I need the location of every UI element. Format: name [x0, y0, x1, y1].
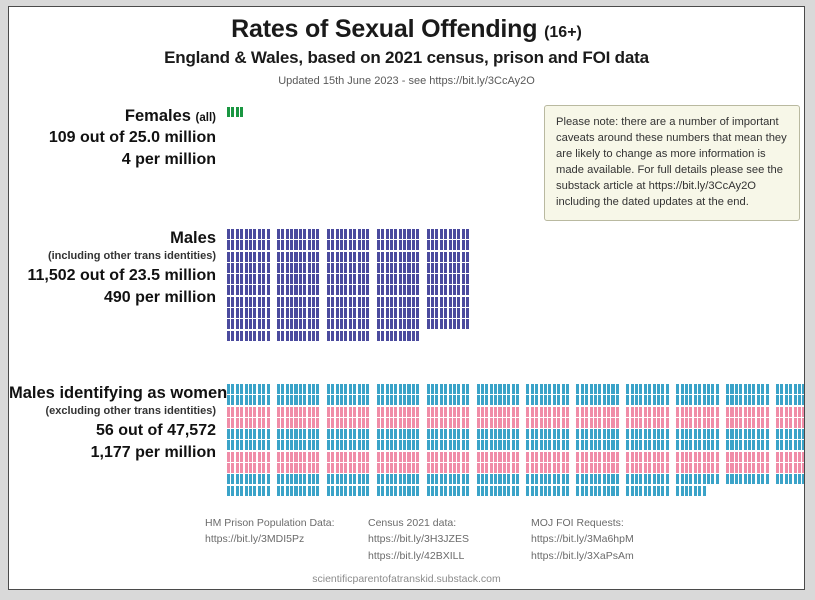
person-icon	[789, 463, 792, 473]
person-icon	[435, 384, 438, 394]
person-icon	[752, 395, 755, 405]
person-icon	[716, 407, 719, 417]
person-icon	[666, 407, 669, 417]
page-title: Rates of Sexual Offending (16+)	[9, 16, 804, 44]
person-icon	[594, 429, 597, 439]
person-icon	[548, 486, 551, 496]
person-icon	[490, 384, 493, 394]
person-icon	[407, 297, 410, 307]
person-icon	[449, 407, 452, 417]
pictogram-block	[227, 429, 271, 440]
person-icon	[798, 474, 801, 484]
person-icon	[802, 407, 805, 417]
person-icon	[607, 486, 610, 496]
person-icon	[294, 463, 297, 473]
person-icon	[294, 418, 297, 428]
person-icon	[535, 486, 538, 496]
person-icon	[231, 418, 234, 428]
person-icon	[427, 418, 430, 428]
person-icon	[299, 319, 302, 329]
person-icon	[585, 463, 588, 473]
pictogram-block	[227, 331, 271, 342]
person-icon	[377, 395, 380, 405]
person-icon	[253, 319, 256, 329]
person-icon	[594, 486, 597, 496]
person-icon	[290, 240, 293, 250]
person-icon	[331, 319, 334, 329]
person-icon	[390, 252, 393, 262]
person-icon	[294, 486, 297, 496]
person-icon	[349, 452, 352, 462]
person-icon	[236, 331, 239, 341]
person-icon	[557, 384, 560, 394]
person-icon	[694, 418, 697, 428]
person-icon	[403, 452, 406, 462]
person-icon	[449, 240, 452, 250]
person-icon	[362, 240, 365, 250]
person-icon	[390, 229, 393, 239]
pictogram-block	[327, 440, 371, 451]
person-icon	[267, 285, 270, 295]
person-icon	[440, 384, 443, 394]
person-icon	[281, 252, 284, 262]
pictogram-block	[427, 429, 471, 440]
pictogram-block	[227, 319, 271, 330]
pictogram-block	[726, 474, 770, 485]
pictogram-block	[626, 418, 670, 429]
person-icon	[666, 384, 669, 394]
pictogram-row	[227, 107, 251, 118]
pictogram-block	[676, 463, 720, 474]
person-icon	[581, 486, 584, 496]
person-icon	[457, 452, 460, 462]
person-icon	[653, 440, 656, 450]
person-icon	[462, 463, 465, 473]
person-icon	[412, 395, 415, 405]
person-icon	[516, 395, 519, 405]
person-icon	[576, 418, 579, 428]
person-icon	[431, 429, 434, 439]
person-icon	[308, 440, 311, 450]
person-icon	[661, 429, 664, 439]
person-icon	[703, 395, 706, 405]
person-icon	[635, 452, 638, 462]
person-icon	[681, 407, 684, 417]
person-icon	[262, 395, 265, 405]
person-icon	[344, 452, 347, 462]
person-icon	[802, 418, 805, 428]
pictogram-block	[427, 263, 471, 274]
person-icon	[590, 407, 593, 417]
person-icon	[399, 285, 402, 295]
person-icon	[526, 452, 529, 462]
person-icon	[258, 452, 261, 462]
person-icon	[262, 384, 265, 394]
person-icon	[290, 331, 293, 341]
person-icon	[785, 452, 788, 462]
person-icon	[611, 429, 614, 439]
person-icon	[327, 331, 330, 341]
person-icon	[240, 486, 243, 496]
person-icon	[394, 308, 397, 318]
person-icon	[681, 395, 684, 405]
person-icon	[611, 474, 614, 484]
person-icon	[449, 452, 452, 462]
person-icon	[349, 331, 352, 341]
footer-site-link[interactable]: scientificparentofatranskid.substack.com	[9, 573, 804, 585]
person-icon	[440, 297, 443, 307]
pictogram-block	[327, 452, 371, 463]
person-icon	[462, 440, 465, 450]
person-icon	[427, 407, 430, 417]
person-icon	[681, 429, 684, 439]
person-icon	[748, 384, 751, 394]
person-icon	[657, 429, 660, 439]
person-icon	[231, 274, 234, 284]
person-icon	[666, 463, 669, 473]
source-link[interactable]: https://bit.ly/3XaPsAm	[531, 548, 676, 564]
person-icon	[544, 407, 547, 417]
person-icon	[316, 429, 319, 439]
person-icon	[277, 440, 280, 450]
person-icon	[316, 274, 319, 284]
person-icon	[303, 308, 306, 318]
person-icon	[744, 474, 747, 484]
person-icon	[503, 407, 506, 417]
pictogram-block	[477, 429, 521, 440]
person-icon	[267, 297, 270, 307]
person-icon	[403, 418, 406, 428]
person-icon	[336, 440, 339, 450]
person-icon	[481, 384, 484, 394]
person-icon	[739, 452, 742, 462]
person-icon	[648, 486, 651, 496]
person-icon	[344, 319, 347, 329]
person-icon	[340, 486, 343, 496]
person-icon	[435, 452, 438, 462]
person-icon	[553, 384, 556, 394]
person-icon	[748, 440, 751, 450]
person-icon	[681, 486, 684, 496]
person-icon	[394, 297, 397, 307]
person-icon	[394, 407, 397, 417]
person-icon	[512, 395, 515, 405]
person-icon	[236, 240, 239, 250]
person-icon	[308, 474, 311, 484]
person-icon	[726, 395, 729, 405]
person-icon	[249, 308, 252, 318]
person-icon	[303, 252, 306, 262]
person-icon	[685, 452, 688, 462]
person-icon	[590, 395, 593, 405]
person-icon	[607, 384, 610, 394]
pictogram-block	[427, 463, 471, 474]
person-icon	[716, 440, 719, 450]
person-icon	[308, 407, 311, 417]
person-icon	[331, 418, 334, 428]
person-icon	[286, 331, 289, 341]
person-icon	[277, 452, 280, 462]
person-icon	[308, 308, 311, 318]
person-icon	[457, 418, 460, 428]
person-icon	[245, 285, 248, 295]
person-icon	[377, 240, 380, 250]
person-icon	[431, 285, 434, 295]
person-icon	[227, 319, 230, 329]
person-icon	[635, 429, 638, 439]
pictogram-block	[227, 418, 271, 429]
person-icon	[394, 486, 397, 496]
person-icon	[748, 407, 751, 417]
person-icon	[431, 407, 434, 417]
person-icon	[286, 274, 289, 284]
person-icon	[707, 429, 710, 439]
person-icon	[236, 274, 239, 284]
person-icon	[735, 384, 738, 394]
pictogram-block	[277, 474, 321, 485]
person-icon	[412, 452, 415, 462]
pictogram-block	[576, 395, 620, 406]
person-icon	[789, 407, 792, 417]
group-label-text: Females	[125, 107, 191, 125]
person-icon	[416, 263, 419, 273]
person-icon	[399, 486, 402, 496]
person-icon	[253, 240, 256, 250]
person-icon	[526, 418, 529, 428]
person-icon	[331, 263, 334, 273]
person-icon	[258, 274, 261, 284]
person-icon	[639, 395, 642, 405]
person-icon	[744, 418, 747, 428]
person-icon	[349, 463, 352, 473]
source-heading: HM Prison Population Data:	[205, 515, 368, 531]
person-icon	[349, 252, 352, 262]
person-icon	[240, 229, 243, 239]
person-icon	[286, 486, 289, 496]
person-icon	[780, 395, 783, 405]
person-icon	[440, 308, 443, 318]
person-icon	[299, 486, 302, 496]
person-icon	[231, 395, 234, 405]
person-icon	[277, 240, 280, 250]
person-icon	[494, 407, 497, 417]
pictogram-block	[477, 440, 521, 451]
person-icon	[535, 395, 538, 405]
person-icon	[581, 440, 584, 450]
person-icon	[562, 395, 565, 405]
person-icon	[236, 418, 239, 428]
person-icon	[566, 486, 569, 496]
pictogram-block	[726, 418, 770, 429]
person-icon	[290, 429, 293, 439]
person-icon	[716, 463, 719, 473]
person-icon	[526, 384, 529, 394]
person-icon	[399, 452, 402, 462]
person-icon	[336, 308, 339, 318]
person-icon	[616, 429, 619, 439]
pictogram-block	[377, 263, 421, 274]
person-icon	[457, 429, 460, 439]
pictogram-block	[377, 240, 421, 251]
person-icon	[626, 384, 629, 394]
person-icon	[531, 395, 534, 405]
person-icon	[639, 440, 642, 450]
person-icon	[616, 384, 619, 394]
person-icon	[711, 463, 714, 473]
person-icon	[262, 331, 265, 341]
person-icon	[277, 285, 280, 295]
person-icon	[399, 319, 402, 329]
person-icon	[262, 229, 265, 239]
pictogram-block	[277, 463, 321, 474]
pictogram-block	[277, 297, 321, 308]
person-icon	[507, 463, 510, 473]
source-link[interactable]: https://bit.ly/3Ma6hpM	[531, 531, 676, 547]
person-icon	[340, 263, 343, 273]
person-icon	[462, 452, 465, 462]
person-icon	[648, 463, 651, 473]
pictogram-block	[327, 297, 371, 308]
person-icon	[227, 274, 230, 284]
pictogram-block	[427, 240, 471, 251]
pictogram-block	[377, 331, 421, 342]
person-icon	[661, 452, 664, 462]
person-icon	[481, 452, 484, 462]
person-icon	[249, 463, 252, 473]
person-icon	[585, 486, 588, 496]
person-icon	[457, 240, 460, 250]
person-icon	[366, 297, 369, 307]
person-icon	[336, 429, 339, 439]
person-icon	[726, 463, 729, 473]
source-link[interactable]: https://bit.ly/42BXILL	[368, 548, 531, 564]
person-icon	[377, 418, 380, 428]
person-icon	[780, 429, 783, 439]
pictogram-block	[227, 440, 271, 451]
person-icon	[598, 452, 601, 462]
person-icon	[236, 463, 239, 473]
pictogram-block	[676, 440, 720, 451]
person-icon	[286, 407, 289, 417]
person-icon	[490, 474, 493, 484]
person-icon	[507, 407, 510, 417]
person-icon	[353, 463, 356, 473]
person-icon	[780, 384, 783, 394]
person-icon	[312, 319, 315, 329]
person-icon	[403, 429, 406, 439]
person-icon	[227, 395, 230, 405]
person-icon	[548, 384, 551, 394]
pictogram-block	[377, 395, 421, 406]
person-icon	[598, 486, 601, 496]
pictogram-block	[227, 107, 245, 118]
person-icon	[427, 384, 430, 394]
person-icon	[435, 474, 438, 484]
pictogram-block	[227, 240, 271, 251]
person-icon	[308, 252, 311, 262]
person-icon	[449, 229, 452, 239]
person-icon	[386, 463, 389, 473]
person-icon	[245, 395, 248, 405]
person-icon	[644, 407, 647, 417]
person-icon	[744, 429, 747, 439]
person-icon	[303, 486, 306, 496]
caveat-note-text: Please note: there are a number of impor…	[556, 116, 787, 208]
person-icon	[281, 474, 284, 484]
person-icon	[707, 463, 710, 473]
person-icon	[277, 407, 280, 417]
person-icon	[399, 263, 402, 273]
pictogram-block	[277, 308, 321, 319]
person-icon	[316, 285, 319, 295]
person-icon	[381, 452, 384, 462]
source-link[interactable]: https://bit.ly/3H3JZES	[368, 531, 531, 547]
person-icon	[726, 474, 729, 484]
person-icon	[666, 474, 669, 484]
person-icon	[676, 452, 679, 462]
person-icon	[390, 308, 393, 318]
person-icon	[616, 463, 619, 473]
person-icon	[412, 229, 415, 239]
person-icon	[481, 418, 484, 428]
person-icon	[490, 440, 493, 450]
person-icon	[249, 407, 252, 417]
pictogram-block	[626, 395, 670, 406]
person-icon	[657, 440, 660, 450]
person-icon	[427, 297, 430, 307]
person-icon	[349, 263, 352, 273]
person-icon	[707, 474, 710, 484]
person-icon	[598, 440, 601, 450]
person-icon	[616, 486, 619, 496]
person-icon	[485, 407, 488, 417]
person-icon	[340, 240, 343, 250]
person-icon	[477, 463, 480, 473]
person-icon	[381, 407, 384, 417]
person-icon	[603, 463, 606, 473]
person-icon	[730, 384, 733, 394]
person-icon	[349, 384, 352, 394]
person-icon	[616, 474, 619, 484]
person-icon	[553, 418, 556, 428]
pictogram-block	[227, 463, 271, 474]
person-icon	[390, 319, 393, 329]
pictogram-males-identifying-as-women	[227, 384, 805, 497]
person-icon	[240, 107, 243, 117]
person-icon	[531, 407, 534, 417]
pictogram-block	[427, 229, 471, 240]
person-icon	[399, 463, 402, 473]
person-icon	[362, 440, 365, 450]
person-icon	[435, 463, 438, 473]
pictogram-block	[277, 229, 321, 240]
person-icon	[785, 395, 788, 405]
person-icon	[277, 308, 280, 318]
pictogram-block	[327, 407, 371, 418]
person-icon	[366, 331, 369, 341]
person-icon	[236, 252, 239, 262]
pictogram-block	[427, 384, 471, 395]
person-icon	[516, 418, 519, 428]
person-icon	[457, 252, 460, 262]
source-link[interactable]: https://bit.ly/3MDI5Pz	[205, 531, 368, 547]
person-icon	[412, 252, 415, 262]
person-icon	[240, 263, 243, 273]
person-icon	[548, 395, 551, 405]
infographic-poster: Rates of Sexual Offending (16+) England …	[8, 6, 805, 590]
person-icon	[512, 452, 515, 462]
person-icon	[531, 452, 534, 462]
